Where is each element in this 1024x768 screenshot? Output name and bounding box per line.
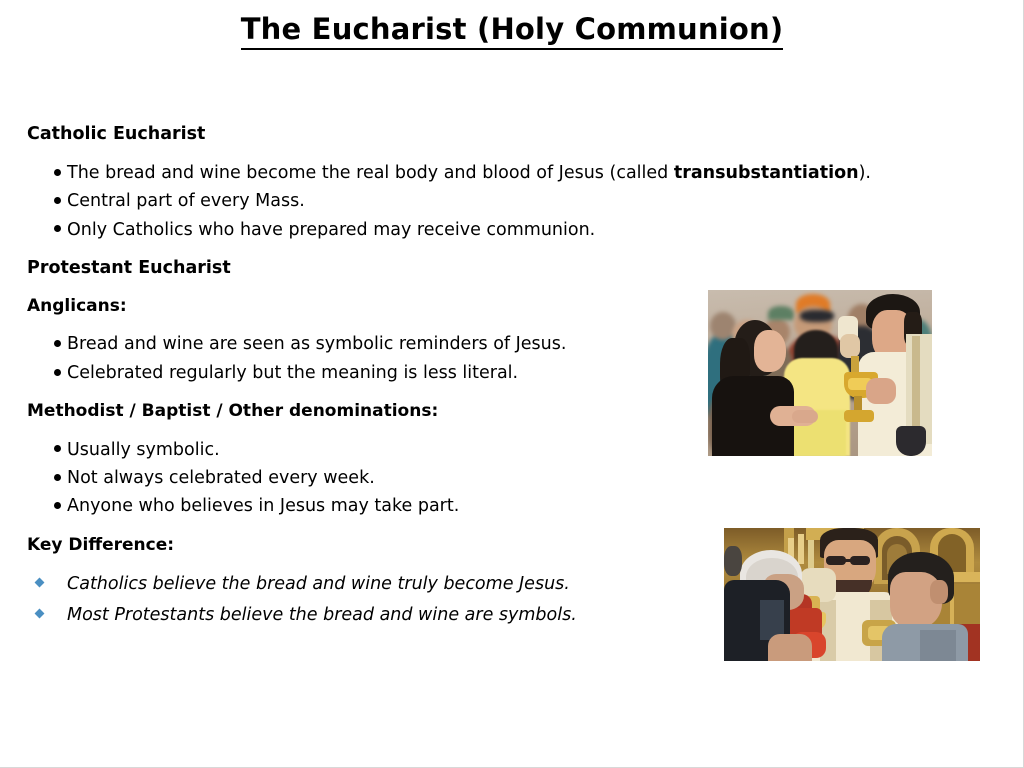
bullet-text-before: The bread and wine become the real body …	[67, 163, 674, 183]
list-item: Usually symbolic.	[27, 436, 687, 464]
bullet-dot-icon	[54, 225, 61, 232]
bullet-text-bold: transubstantiation	[674, 163, 859, 183]
bullet-text: Celebrated regularly but the meaning is …	[67, 363, 518, 383]
page-title-text: The Eucharist (Holy Communion)	[241, 12, 784, 50]
heading-catholic-eucharist: Catholic Eucharist	[27, 124, 687, 145]
bullet-list-anglicans: Bread and wine are seen as symbolic remi…	[27, 330, 687, 387]
bullet-text: Anyone who believes in Jesus may take pa…	[67, 496, 459, 516]
heading-protestant-eucharist: Protestant Eucharist	[27, 258, 687, 279]
image-communion-orthodox	[724, 528, 980, 661]
list-item: Central part of every Mass.	[27, 187, 687, 215]
heading-key-difference: Key Difference:	[27, 535, 687, 555]
list-item: The bread and wine become the real body …	[27, 159, 687, 187]
bullet-text: Only Catholics who have prepared may rec…	[67, 220, 595, 240]
slide: The Eucharist (Holy Communion) Catholic …	[0, 0, 1024, 768]
bullet-text: Not always celebrated every week.	[67, 468, 375, 488]
list-item: Catholics believe the bread and wine tru…	[27, 569, 687, 600]
bullet-text: Bread and wine are seen as symbolic remi…	[67, 334, 566, 354]
list-item: Only Catholics who have prepared may rec…	[27, 216, 687, 244]
page-title: The Eucharist (Holy Communion)	[0, 12, 1024, 50]
list-item: Bread and wine are seen as symbolic remi…	[27, 330, 687, 358]
bullet-dot-icon	[54, 369, 61, 376]
heading-anglicans: Anglicans:	[27, 296, 687, 316]
bullet-dot-icon	[54, 445, 61, 452]
bullet-list-other-denominations: Usually symbolic. Not always celebrated …	[27, 436, 687, 521]
bullet-text: Usually symbolic.	[67, 440, 220, 460]
bullet-list-catholic: The bread and wine become the real body …	[27, 159, 687, 244]
bullet-diamond-icon	[35, 578, 45, 588]
slide-body: Catholic Eucharist The bread and wine be…	[27, 124, 687, 631]
bullet-dot-icon	[54, 502, 61, 509]
bullet-text: Most Protestants believe the bread and w…	[67, 605, 577, 625]
bullet-dot-icon	[54, 340, 61, 347]
bullet-text: Catholics believe the bread and wine tru…	[67, 574, 570, 594]
list-item: Celebrated regularly but the meaning is …	[27, 359, 687, 387]
list-item: Anyone who believes in Jesus may take pa…	[27, 492, 687, 520]
list-item: Most Protestants believe the bread and w…	[27, 600, 687, 631]
list-item: Not always celebrated every week.	[27, 464, 687, 492]
heading-other-denominations: Methodist / Baptist / Other denomination…	[27, 401, 687, 421]
image-communion-modern	[708, 290, 932, 456]
bullet-text: Central part of every Mass.	[67, 191, 305, 211]
bullet-dot-icon	[54, 197, 61, 204]
bullet-text-after: ).	[859, 163, 871, 183]
bullet-diamond-icon	[35, 609, 45, 619]
bullet-dot-icon	[54, 474, 61, 481]
bullet-list-key-difference: Catholics believe the bread and wine tru…	[27, 569, 687, 631]
bullet-dot-icon	[54, 169, 61, 176]
